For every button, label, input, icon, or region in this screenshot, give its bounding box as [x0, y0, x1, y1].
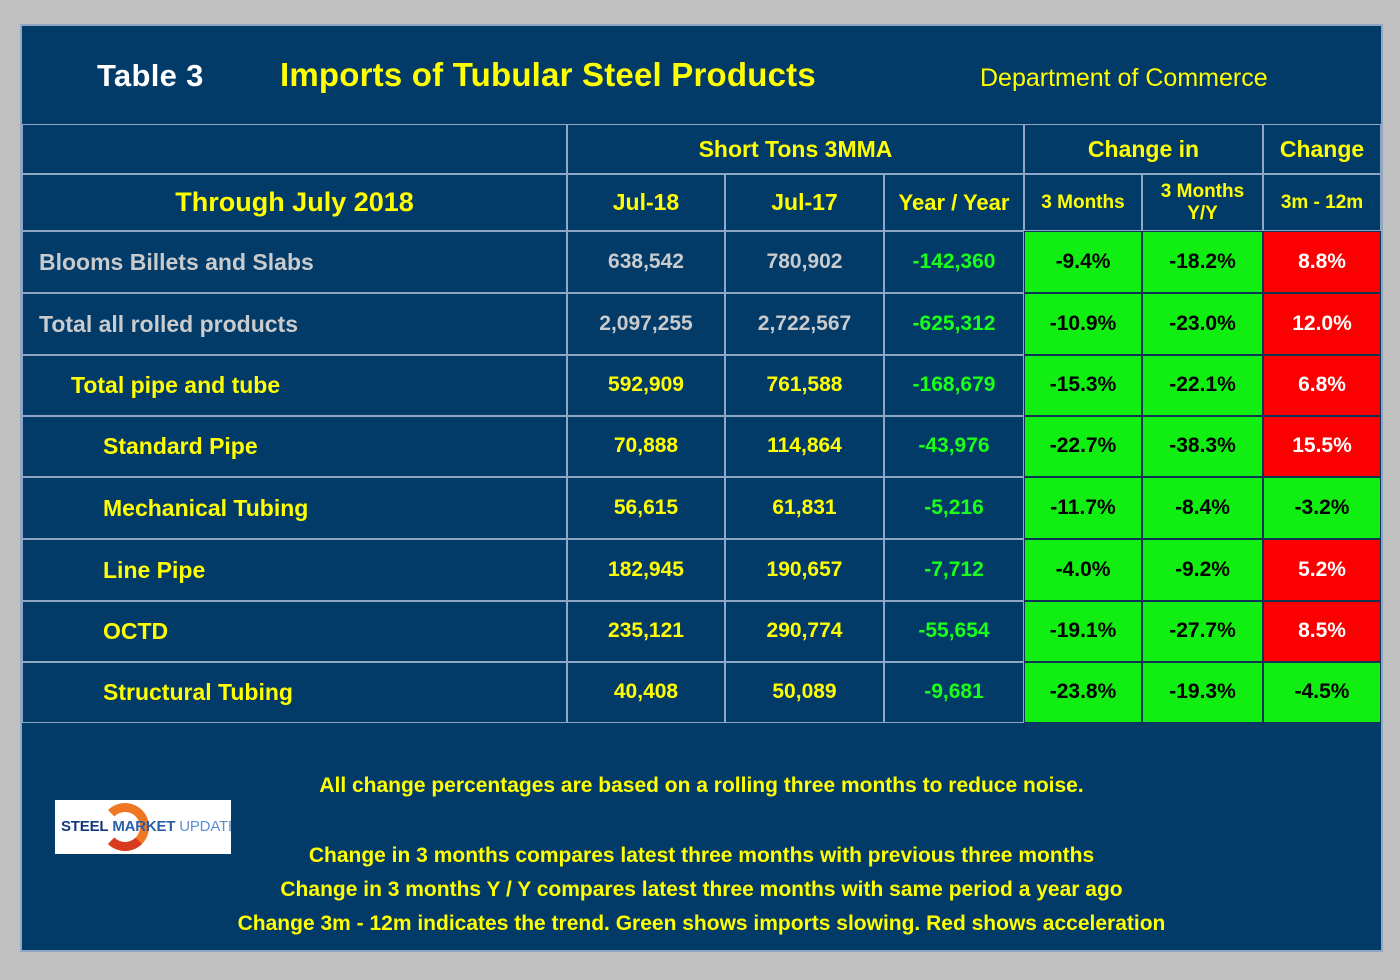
header-col-3-months-yy-line1: 3 Months: [1161, 181, 1244, 203]
source-label: Department of Commerce: [980, 64, 1268, 93]
cell-change-3m-12m: -3.2%: [1263, 477, 1381, 539]
cell-jul18: 56,615: [567, 477, 725, 539]
logo-text: STEEL MARKET UPDATE: [61, 818, 231, 835]
cell-jul17: 190,657: [725, 539, 884, 601]
cell-jul18: 40,408: [567, 662, 725, 723]
footnote-line-1: All change percentages are based on a ro…: [22, 774, 1381, 798]
header-group-short-tons: Short Tons 3MMA: [567, 124, 1024, 174]
cell-change-3-months: -9.4%: [1024, 231, 1142, 293]
cell-change-3m-12m: 6.8%: [1263, 355, 1381, 416]
header-group-change-in: Change in: [1024, 124, 1263, 174]
data-table: Short Tons 3MMAChange inChangeThrough Ju…: [22, 124, 1381, 725]
row-label-total-pipe-and-tube: Total pipe and tube: [22, 355, 567, 416]
cell-change-3-months-yy: -18.2%: [1142, 231, 1263, 293]
cell-jul18: 70,888: [567, 416, 725, 477]
cell-change-3-months: -19.1%: [1024, 601, 1142, 662]
cell-change-3-months: -10.9%: [1024, 293, 1142, 355]
cell-change-3-months-yy: -38.3%: [1142, 416, 1263, 477]
page-title: Imports of Tubular Steel Products: [280, 56, 816, 94]
cell-year-year: -43,976: [884, 416, 1024, 477]
cell-year-year: -5,216: [884, 477, 1024, 539]
header-col-3-months-yy: 3 MonthsY/Y: [1142, 174, 1263, 231]
header-cell-blank: [22, 124, 567, 174]
cell-jul18: 235,121: [567, 601, 725, 662]
header-group-change: Change: [1263, 124, 1381, 174]
cell-change-3m-12m: 15.5%: [1263, 416, 1381, 477]
header-col-3-months: 3 Months: [1024, 174, 1142, 231]
logo-word-market: MARKET: [112, 818, 175, 835]
table-number-label: Table 3: [97, 58, 204, 94]
cell-jul18: 592,909: [567, 355, 725, 416]
cell-change-3-months-yy: -27.7%: [1142, 601, 1263, 662]
header-col-year-year: Year / Year: [884, 174, 1024, 231]
row-label-total-all-rolled-products: Total all rolled products: [22, 293, 567, 355]
cell-year-year: -55,654: [884, 601, 1024, 662]
cell-change-3-months: -15.3%: [1024, 355, 1142, 416]
cell-change-3m-12m: 8.5%: [1263, 601, 1381, 662]
header-col-jul17: Jul-17: [725, 174, 884, 231]
header-period-label: Through July 2018: [22, 174, 567, 231]
row-label-octd: OCTD: [22, 601, 567, 662]
cell-change-3-months-yy: -19.3%: [1142, 662, 1263, 723]
row-label-line-pipe: Line Pipe: [22, 539, 567, 601]
row-label-mechanical-tubing: Mechanical Tubing: [22, 477, 567, 539]
cell-change-3-months-yy: -22.1%: [1142, 355, 1263, 416]
cell-change-3-months: -22.7%: [1024, 416, 1142, 477]
cell-year-year: -9,681: [884, 662, 1024, 723]
cell-year-year: -142,360: [884, 231, 1024, 293]
logo-word-update: UPDATE: [179, 818, 231, 835]
cell-jul17: 761,588: [725, 355, 884, 416]
cell-change-3-months-yy: -9.2%: [1142, 539, 1263, 601]
cell-change-3m-12m: 8.8%: [1263, 231, 1381, 293]
row-label-blooms-billets-and-slabs: Blooms Billets and Slabs: [22, 231, 567, 293]
cell-jul17: 780,902: [725, 231, 884, 293]
cell-change-3-months: -4.0%: [1024, 539, 1142, 601]
footnote-line-3: Change in 3 months Y / Y compares latest…: [22, 878, 1381, 902]
cell-change-3m-12m: 12.0%: [1263, 293, 1381, 355]
cell-change-3-months-yy: -8.4%: [1142, 477, 1263, 539]
header-col-jul18: Jul-18: [567, 174, 725, 231]
cell-year-year: -7,712: [884, 539, 1024, 601]
cell-change-3-months-yy: -23.0%: [1142, 293, 1263, 355]
header-col-3-months-yy-line2: Y/Y: [1187, 203, 1218, 225]
cell-jul17: 114,864: [725, 416, 884, 477]
footnote-line-4: Change 3m - 12m indicates the trend. Gre…: [22, 912, 1381, 936]
footnote-line-2: Change in 3 months compares latest three…: [22, 844, 1381, 868]
cell-change-3m-12m: 5.2%: [1263, 539, 1381, 601]
cell-jul18: 182,945: [567, 539, 725, 601]
footer-notes: STEEL MARKET UPDATE All change percentag…: [22, 726, 1381, 954]
cell-change-3-months: -23.8%: [1024, 662, 1142, 723]
row-label-standard-pipe: Standard Pipe: [22, 416, 567, 477]
cell-change-3-months: -11.7%: [1024, 477, 1142, 539]
row-label-structural-tubing: Structural Tubing: [22, 662, 567, 723]
cell-year-year: -168,679: [884, 355, 1024, 416]
cell-jul18: 638,542: [567, 231, 725, 293]
cell-jul17: 50,089: [725, 662, 884, 723]
cell-jul17: 2,722,567: [725, 293, 884, 355]
cell-jul18: 2,097,255: [567, 293, 725, 355]
logo-word-steel: STEEL: [61, 818, 108, 835]
slide-panel: Table 3 Imports of Tubular Steel Product…: [20, 24, 1383, 952]
header-col-3m-12m: 3m - 12m: [1263, 174, 1381, 231]
cell-change-3m-12m: -4.5%: [1263, 662, 1381, 723]
cell-jul17: 61,831: [725, 477, 884, 539]
cell-year-year: -625,312: [884, 293, 1024, 355]
cell-jul17: 290,774: [725, 601, 884, 662]
title-bar: Table 3 Imports of Tubular Steel Product…: [22, 26, 1381, 124]
